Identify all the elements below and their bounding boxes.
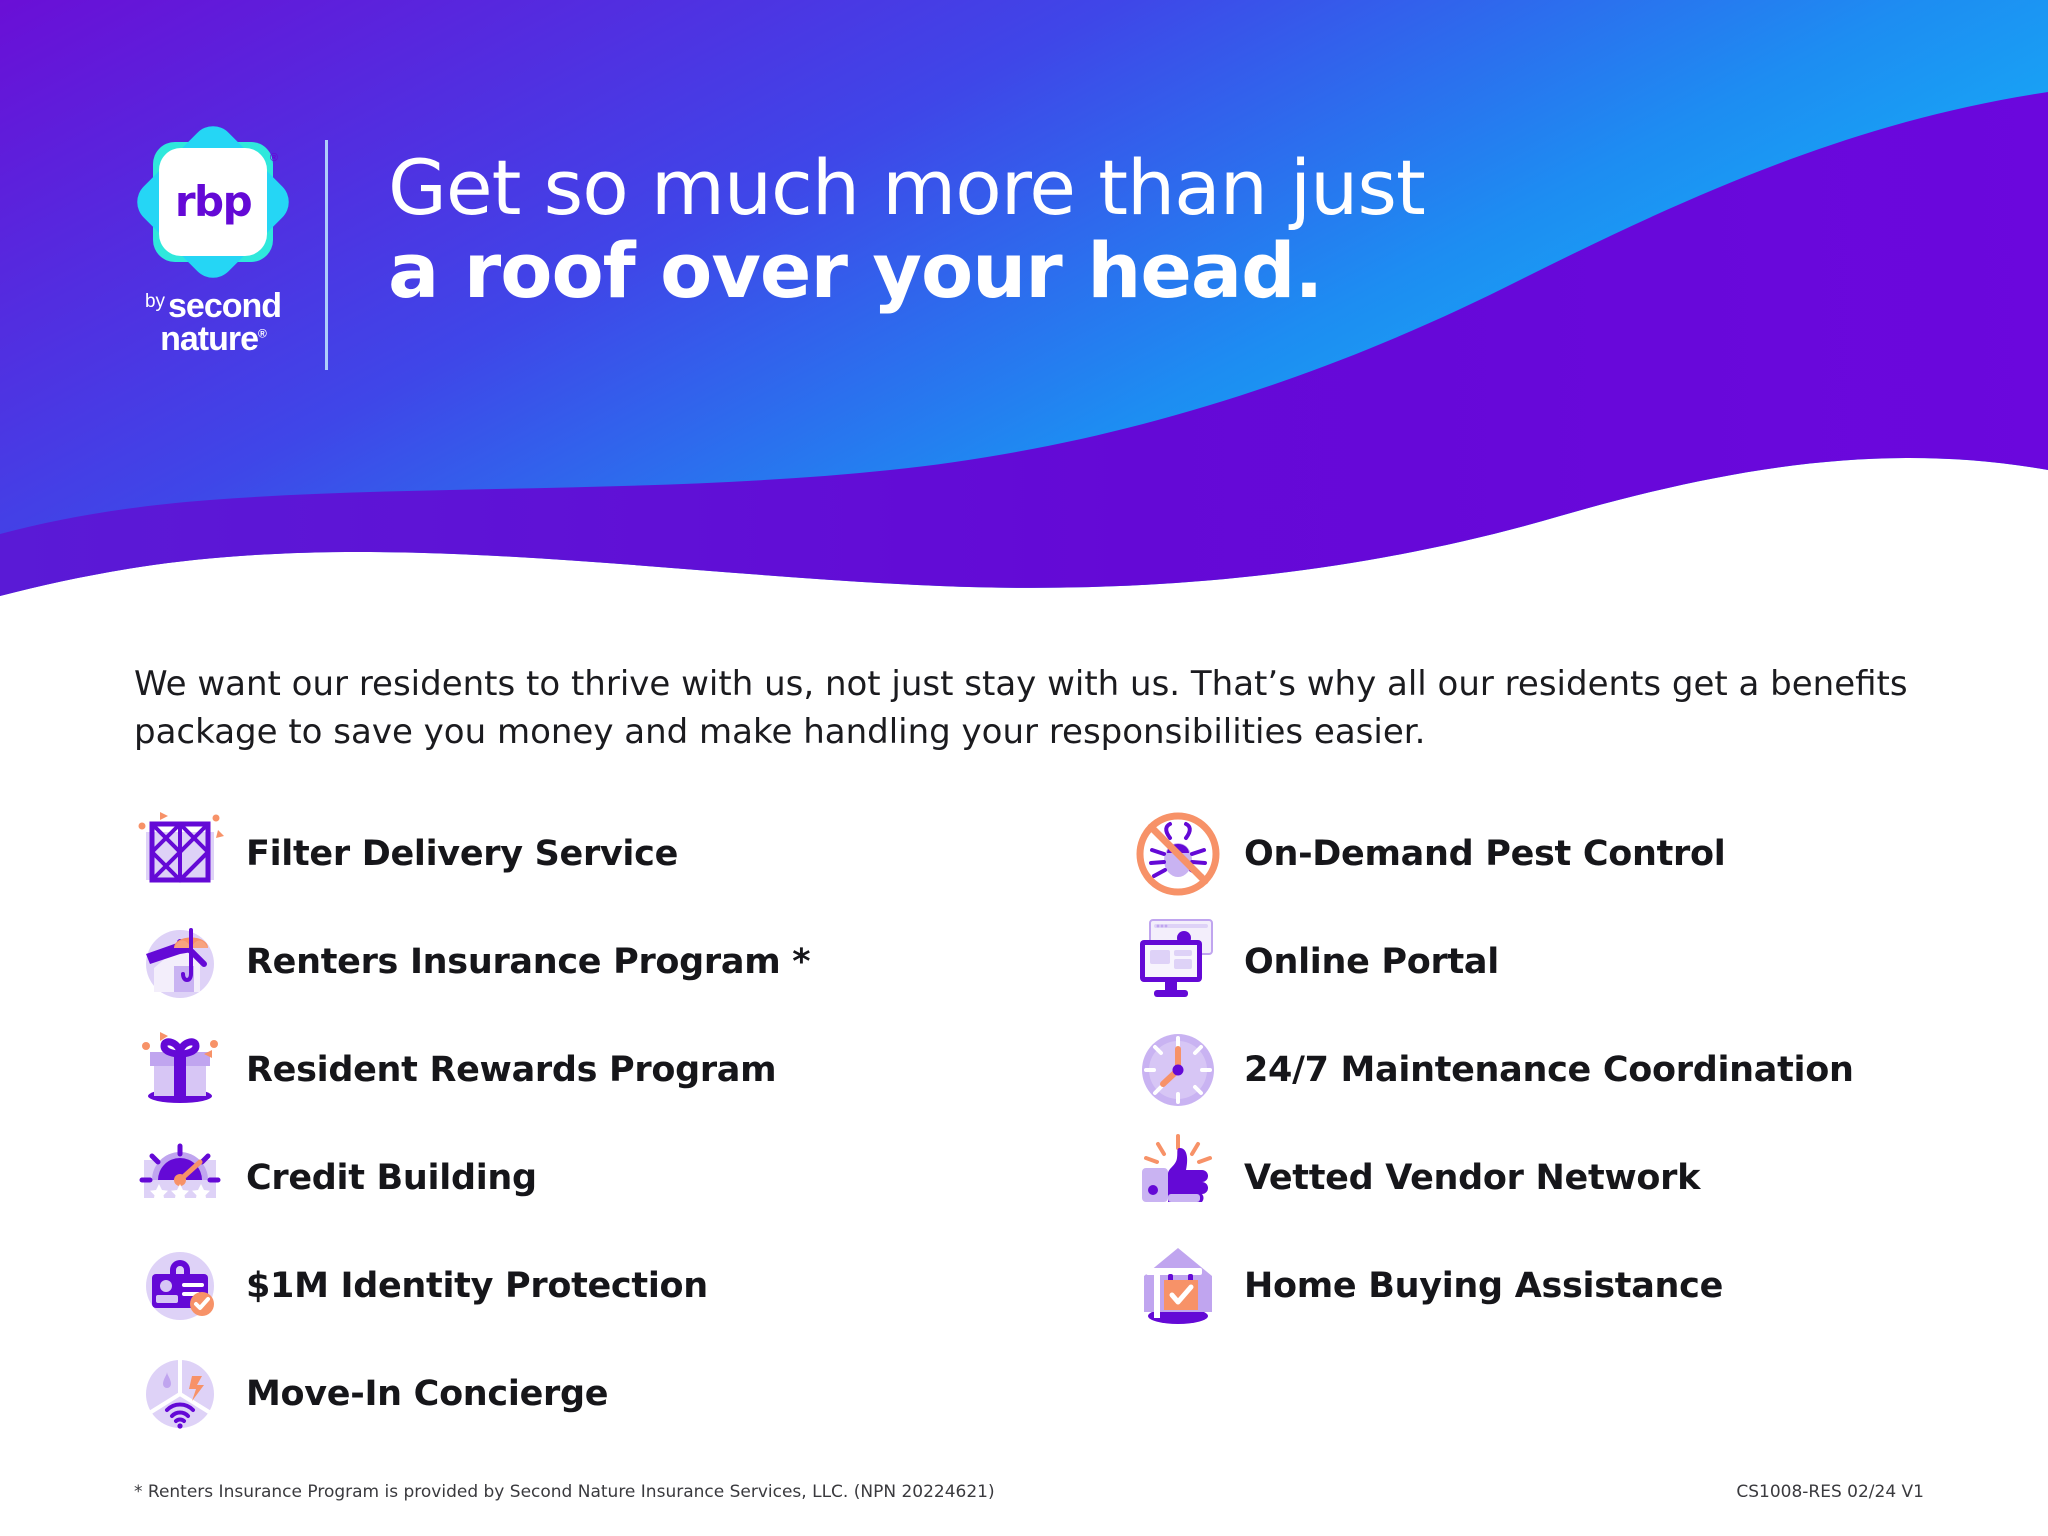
document-code: CS1008-RES 02/24 V1 [1736, 1482, 1924, 1502]
header-divider [325, 140, 328, 370]
intro-paragraph: We want our residents to thrive with us,… [134, 660, 1924, 757]
utilities-circle-icon [134, 1348, 226, 1440]
rbp-logo-mark: rbp ® [139, 128, 287, 276]
benefits-list: Filter Delivery Service Renters Insuranc… [134, 800, 1924, 1448]
benefit-label: Home Buying Assistance [1244, 1266, 1723, 1306]
id-badge-icon [134, 1240, 226, 1332]
benefit-label: 24/7 Maintenance Coordination [1244, 1050, 1854, 1090]
monitor-portal-icon [1132, 916, 1224, 1008]
benefit-item-pest-control: On-Demand Pest Control [1132, 800, 1922, 908]
logo-byline-registered: ® [258, 326, 266, 340]
logo-byline-nature-text: nature [160, 320, 258, 358]
benefit-label: Credit Building [246, 1158, 537, 1198]
benefit-label: Vetted Vendor Network [1244, 1158, 1700, 1198]
page-title: Get so much more than just a roof over y… [388, 150, 1588, 316]
footnote-text: * Renters Insurance Program is provided … [134, 1482, 995, 1502]
benefit-item-online-portal: Online Portal [1132, 908, 1922, 1016]
benefit-item-filter-delivery-service: Filter Delivery Service [134, 800, 1084, 908]
benefit-item-identity-protection: $1M Identity Protection [134, 1232, 1084, 1340]
rbp-logo: rbp ® bysecond nature® [118, 128, 308, 368]
filter-icon [134, 808, 226, 900]
header-banner: rbp ® bysecond nature® Get so much more … [0, 0, 2048, 620]
logo-registered-mark: ® [270, 152, 278, 164]
thumbs-up-icon [1132, 1132, 1224, 1224]
benefit-item-maintenance-coordination: 24/7 Maintenance Coordination [1132, 1016, 1922, 1124]
logo-white-tile: rbp ® [159, 148, 267, 256]
benefit-label: Resident Rewards Program [246, 1050, 776, 1090]
headline-line-1: Get so much more than just [388, 150, 1588, 226]
benefit-label: Renters Insurance Program * [246, 942, 810, 982]
benefits-column-left: Filter Delivery Service Renters Insuranc… [134, 800, 1084, 1448]
benefits-column-right: On-Demand Pest Control [1132, 800, 1922, 1448]
logo-wordmark: rbp [175, 181, 251, 223]
clock-icon [1132, 1024, 1224, 1116]
logo-byline-by: by [145, 290, 165, 311]
headline-line-2: a roof over your head. [388, 226, 1588, 316]
benefit-item-home-buying-assistance: Home Buying Assistance [1132, 1232, 1922, 1340]
benefit-label: Online Portal [1244, 942, 1499, 982]
benefit-item-renters-insurance-program: Renters Insurance Program * [134, 908, 1084, 1016]
gift-icon [134, 1024, 226, 1116]
logo-byline-nature: nature® [118, 323, 308, 356]
umbrella-house-icon [134, 916, 226, 1008]
benefit-label: Filter Delivery Service [246, 834, 678, 874]
house-sign-icon [1132, 1240, 1224, 1332]
benefit-item-move-in-concierge: Move-In Concierge [134, 1340, 1084, 1448]
benefit-label: Move-In Concierge [246, 1374, 608, 1414]
benefit-item-vetted-vendor-network: Vetted Vendor Network [1132, 1124, 1922, 1232]
no-pest-icon [1132, 808, 1224, 900]
benefit-label: On-Demand Pest Control [1244, 834, 1725, 874]
benefit-item-resident-rewards-program: Resident Rewards Program [134, 1016, 1084, 1124]
benefit-item-credit-building: Credit Building [134, 1124, 1084, 1232]
benefit-label: $1M Identity Protection [246, 1266, 708, 1306]
logo-byline: bysecond nature® [118, 290, 308, 355]
credit-gauge-icon [134, 1132, 226, 1224]
